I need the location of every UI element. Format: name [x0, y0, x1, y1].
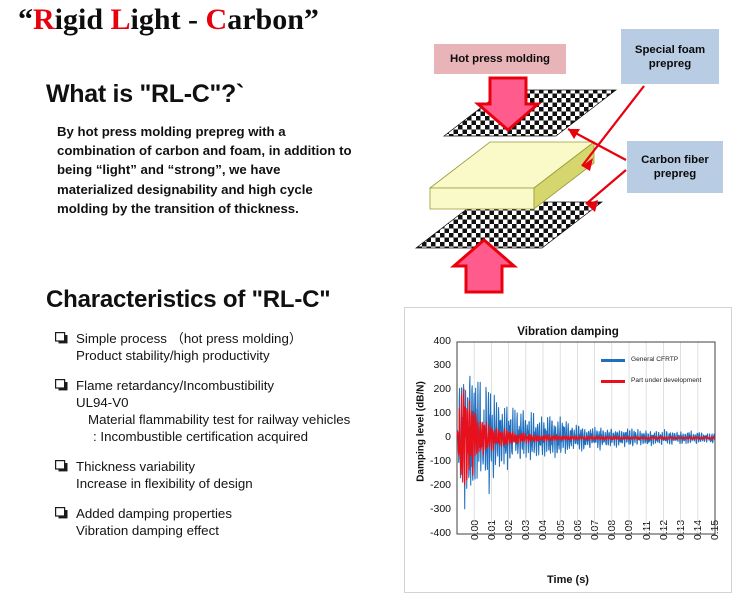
- legend-label: General CFRTP: [631, 356, 678, 364]
- heading-characteristics: Characteristics of "RL-C": [46, 286, 331, 314]
- characteristics-bullet-list: Simple process （hot press molding）Produc…: [55, 330, 405, 552]
- bullet-main-text: Added damping properties: [76, 505, 232, 522]
- legend-item: General CFRTP: [601, 356, 711, 364]
- bullet-main-text: Flame retardancy/Incombustibility: [76, 377, 274, 394]
- upper-carbon-sheet: [444, 90, 616, 136]
- leader-line-carbon-lower: [586, 170, 626, 204]
- legend-label: Part under development: [631, 377, 701, 385]
- vibration-damping-chart: Vibration damping Damping level (dB/N) T…: [404, 307, 732, 593]
- bullet-sub-text: : Incombustible certification acquired: [93, 428, 405, 445]
- list-item[interactable]: Flame retardancy/Incombustibility: [55, 377, 405, 394]
- bullet-sub-text: Vibration damping effect: [76, 522, 405, 539]
- bullet-sub-text: Product stability/high productivity: [76, 347, 405, 364]
- slide-root: “Rigid Light - Carbon” What is "RL-C"?` …: [0, 0, 734, 595]
- bullet-sub-text: UL94-V0: [76, 394, 405, 411]
- page-title-run-0: “: [18, 3, 33, 36]
- chart-series-line: [457, 389, 715, 485]
- bullet-main-text: Simple process （hot press molding）: [76, 330, 302, 347]
- page-title-run-1: R: [33, 3, 55, 36]
- chart-canvas: [405, 308, 733, 594]
- page-title-run-3: L: [111, 3, 131, 36]
- shadow-square-bullet-icon: [55, 507, 70, 519]
- legend-swatch: [601, 359, 625, 362]
- foam-slab-front: [430, 188, 534, 209]
- legend-item: Part under development: [601, 377, 711, 385]
- bullet-main-text: Thickness variability: [76, 458, 195, 475]
- bullet-group: Added damping propertiesVibration dampin…: [55, 505, 405, 539]
- process-diagram: Hot press molding Special foam prepreg C…: [404, 8, 734, 300]
- list-item[interactable]: Simple process （hot press molding）: [55, 330, 405, 347]
- list-item[interactable]: Thickness variability: [55, 458, 405, 475]
- page-title-run-2: igid: [55, 3, 111, 36]
- shadow-square-bullet-icon: [55, 460, 70, 472]
- shadow-square-bullet-icon: [55, 332, 70, 344]
- bullet-sub-text: Increase in flexibility of design: [76, 475, 405, 492]
- label-special-foam-prepreg: Special foam prepreg: [621, 29, 719, 84]
- bullet-group: Simple process （hot press molding）Produc…: [55, 330, 405, 364]
- bullet-sub-text: Material flammability test for railway v…: [88, 411, 405, 428]
- page-title-run-6: arbon: [227, 3, 304, 36]
- label-carbon-fiber-prepreg: Carbon fiber prepreg: [627, 141, 723, 193]
- bullet-group: Flame retardancy/IncombustibilityUL94-V0…: [55, 377, 405, 445]
- label-hot-press-molding: Hot press molding: [434, 44, 566, 74]
- shadow-square-bullet-icon: [55, 379, 70, 391]
- heading-what-is-rlc: What is "RL-C"?`: [46, 80, 244, 109]
- legend-swatch: [601, 380, 625, 383]
- list-item[interactable]: Added damping properties: [55, 505, 405, 522]
- bullet-group: Thickness variabilityIncrease in flexibi…: [55, 458, 405, 492]
- chart-legend: General CFRTPPart under development: [601, 356, 711, 398]
- page-title-run-4: ight -: [131, 3, 206, 36]
- page-title: “Rigid Light - Carbon”: [18, 2, 418, 40]
- chart-plot-area: [405, 308, 733, 599]
- page-title-run-5: C: [206, 3, 228, 36]
- paragraph-description: By hot press molding prepreg with a comb…: [57, 122, 357, 218]
- page-title-run-7: ”: [304, 3, 319, 36]
